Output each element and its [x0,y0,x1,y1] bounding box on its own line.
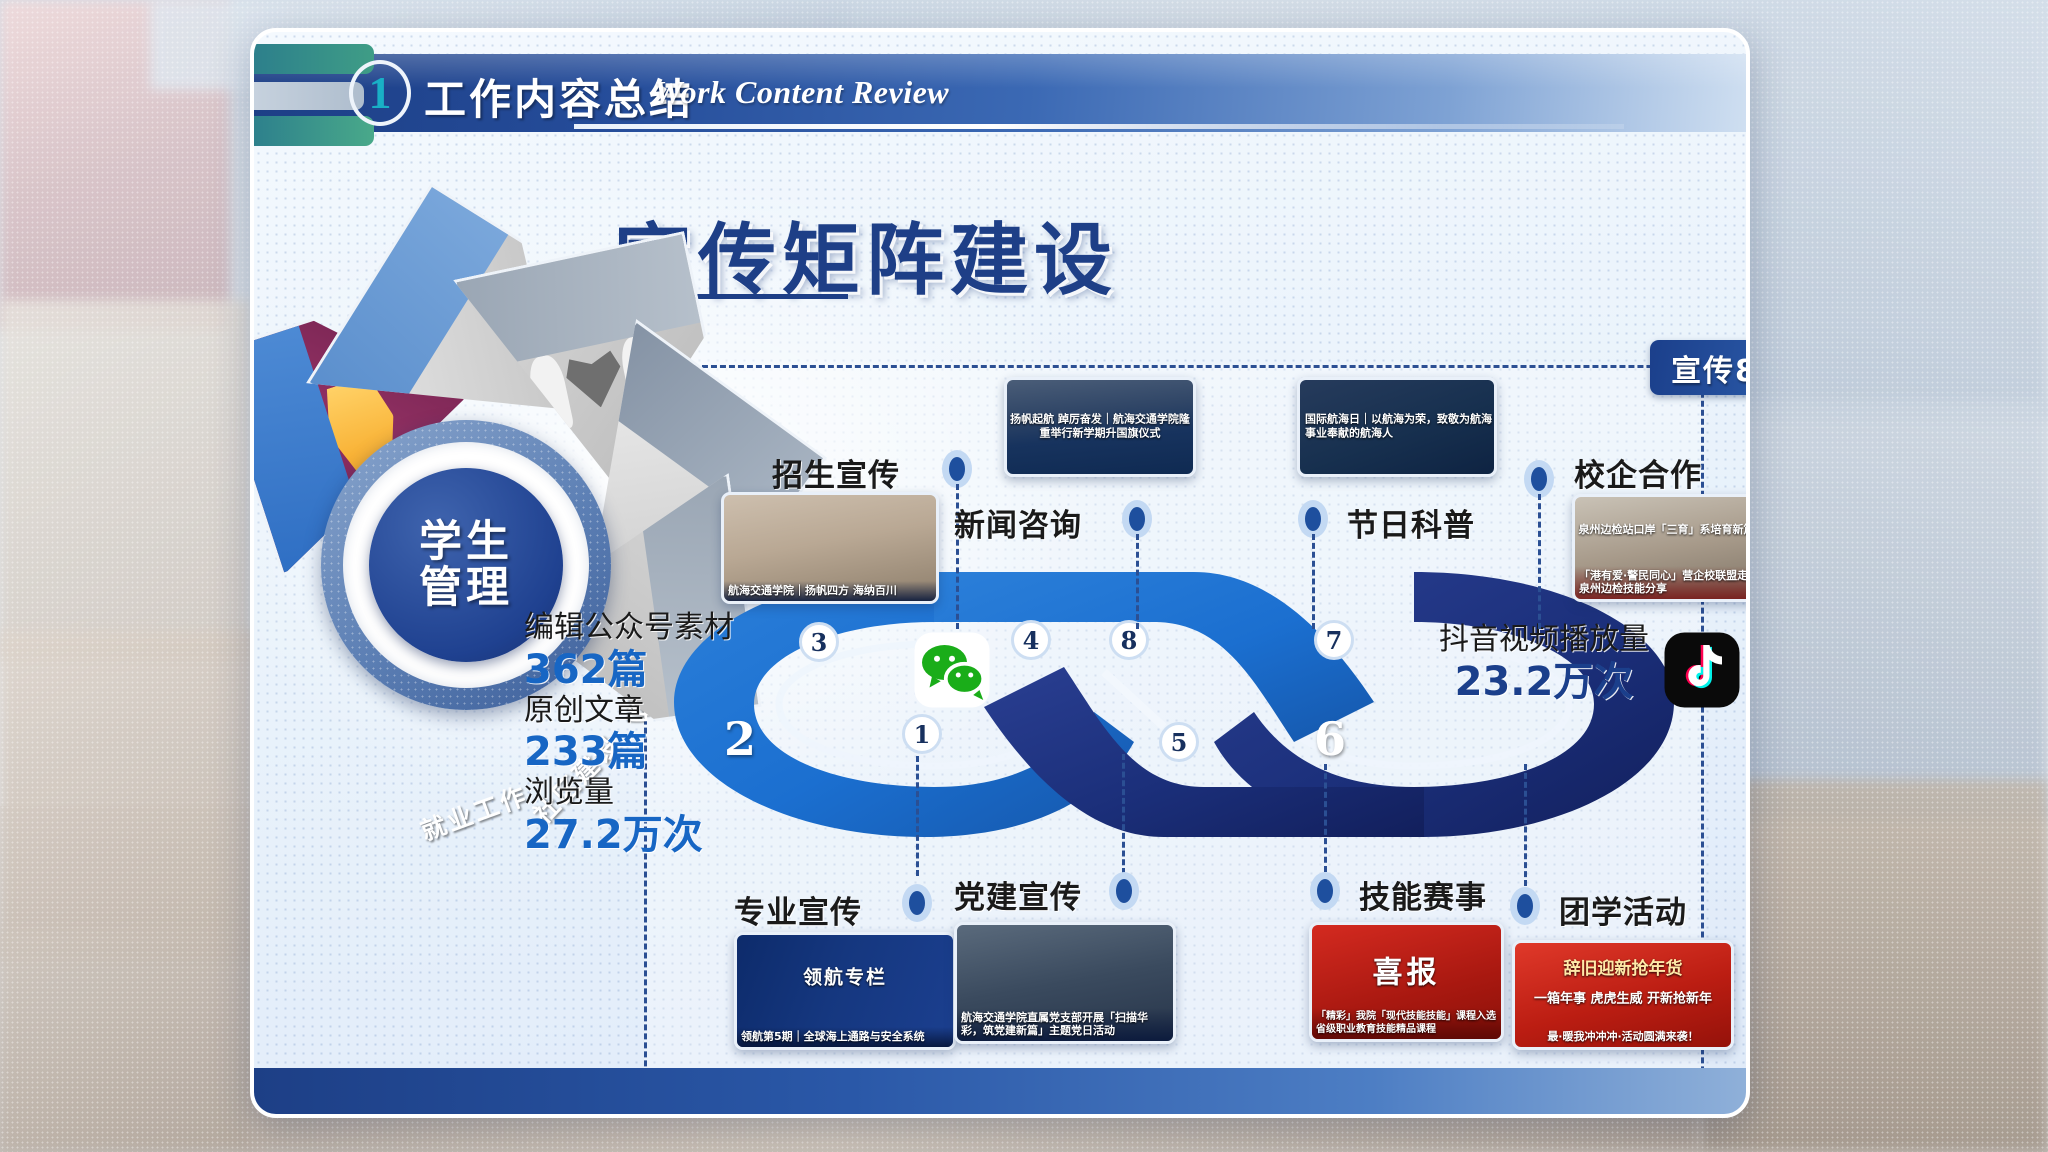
item-leader-party [1122,754,1125,874]
stats-right: 抖音视频播放量 23.2万次 [1439,622,1649,705]
thumb-title: 喜报 [1312,953,1501,992]
item-leader-skill [1324,764,1327,872]
thumb-party[interactable]: 航海交通学院直属党支部开展「扫描华彩，筑党建新篇」主题党日活动 [954,922,1176,1044]
thumb-caption: 领航第5期｜全球海上通路与安全系统 [737,1027,953,1047]
header-chip-bottom [250,116,374,146]
item-label-skill: 技能赛事 [1359,872,1487,917]
header-title-english: Work Content Review [654,74,949,111]
item-leader-school-enterprise [1538,494,1541,629]
stat-value: 233篇 [524,729,734,775]
item-leader-news [1136,534,1139,629]
item-label-party: 党建宣传 [954,872,1082,917]
item-label-news: 新闻咨询 [954,500,1082,545]
item-leader-festival [1312,534,1315,629]
stat-value: 362篇 [524,647,734,693]
item-dot-news[interactable] [1122,500,1152,538]
item-dot-skill[interactable] [1310,872,1340,910]
thumb-news[interactable]: 扬帆起航 踔厉奋发｜航海交通学院隆重举行新学期升国旗仪式 [1004,377,1196,477]
header-number: 1 [369,70,392,116]
thumb-caption: 航海交通学院直属党支部开展「扫描华彩，筑党建新篇」主题党日活动 [957,1008,1173,1042]
item-label-youth: 团学活动 [1559,887,1687,932]
item-label-recruitment: 招生宣传 [772,450,900,495]
thumb-caption: 航海交通学院｜扬帆四方 海纳百川 [724,581,936,601]
thumb-title: 领航专栏 [737,965,953,990]
slide-footer [254,1068,1746,1114]
thumb-caption: 泉州边检站口岸「三育」系培育新篇章 [1575,522,1750,536]
header-number-badge: 1 [349,60,411,126]
slide-card: 1 工作内容总结 Work Content Review 宣传矩阵建设 宣传8大… [250,28,1750,1118]
thumb-title: 辞旧迎新抢年货 [1515,958,1731,980]
item-leader-youth [1524,764,1527,886]
stats-left: 编辑公众号素材 362篇 原创文章 233篇 浏览量 27.2万次 [524,610,734,858]
header-chip-top [250,44,374,74]
stat-caption: 抖音视频播放量 [1439,622,1649,659]
thumb-major[interactable]: 领航专栏 领航第5期｜全球海上通路与安全系统 [734,932,956,1050]
panel-badge-label: 宣传8大板块 [1671,346,1750,390]
loop-number-4: 4 [1011,620,1051,660]
tiktok-logo [1659,627,1745,713]
wheel-center-line2: 管理 [419,565,513,611]
thumb-subtitle: 一箱年事 虎虎生威 开新抢新年 [1515,992,1731,1009]
stat-value: 27.2万次 [524,812,734,858]
thumb-caption: 最·暖我冲冲冲·活动圆满来袭！ [1515,1027,1731,1047]
item-leader-major [916,756,919,876]
item-dot-youth[interactable] [1510,887,1540,925]
panel-badge: 宣传8大板块 [1650,340,1750,395]
wheel-center-line1: 学生 [419,519,513,565]
loop-cross-seam [1104,672,1164,727]
loop-number-7: 7 [1314,620,1354,660]
item-dot-festival[interactable] [1298,500,1328,538]
slide-header: 1 工作内容总结 Work Content Review [254,54,1746,138]
thumb-recruitment[interactable]: 航海交通学院｜扬帆四方 海纳百川 [721,492,939,604]
thumb-festival[interactable]: 国际航海日｜以航海为荣，致敬为航海事业奉献的航海人 [1297,377,1497,477]
loop-number-8: 8 [1109,620,1149,660]
item-dot-party[interactable] [1109,872,1139,910]
item-label-school-enterprise: 校企合作 [1574,450,1702,495]
stat-caption: 浏览量 [524,775,734,812]
loop-number-3: 3 [799,622,839,662]
item-dot-major[interactable] [902,884,932,922]
thumb-caption: 扬帆起航 踔厉奋发｜航海交通学院隆重举行新学期升国旗仪式 [1007,413,1193,442]
item-dot-recruitment[interactable] [942,450,972,488]
loop-number-6: 6 [1314,712,1346,766]
stat-caption: 编辑公众号素材 [524,610,734,647]
thumb-caption: 国际航海日｜以航海为荣，致敬为航海事业奉献的航海人 [1300,413,1494,442]
stat-value: 23.2万次 [1439,659,1649,705]
thumb-caption-secondary: 「港有爱·警民同心」营企校联盟走进泉州边检技能分享 [1575,566,1750,600]
header-chip-middle [250,82,364,110]
stat-caption: 原创文章 [524,693,734,730]
thumb-skill[interactable]: 喜报 「精彩」我院「现代技能技能」课程入选省级职业教育技能精品课程 [1309,922,1504,1042]
item-label-festival: 节日科普 [1347,500,1475,545]
loop-number-5: 5 [1159,722,1199,762]
item-label-major: 专业宣传 [734,887,862,932]
thumb-youth[interactable]: 辞旧迎新抢年货 一箱年事 虎虎生威 开新抢新年 最·暖我冲冲冲·活动圆满来袭！ [1512,940,1734,1050]
thumb-caption: 「精彩」我院「现代技能技能」课程入选省级职业教育技能精品课程 [1312,1008,1501,1039]
wechat-logo [909,627,995,713]
loop-number-1: 1 [902,714,942,754]
thumb-school-enterprise[interactable]: 泉州边检站口岸「三育」系培育新篇章 「港有爱·警民同心」营企校联盟走进泉州边检技… [1572,494,1750,602]
header-underline [574,124,1624,129]
item-dot-school-enterprise[interactable] [1524,460,1554,498]
